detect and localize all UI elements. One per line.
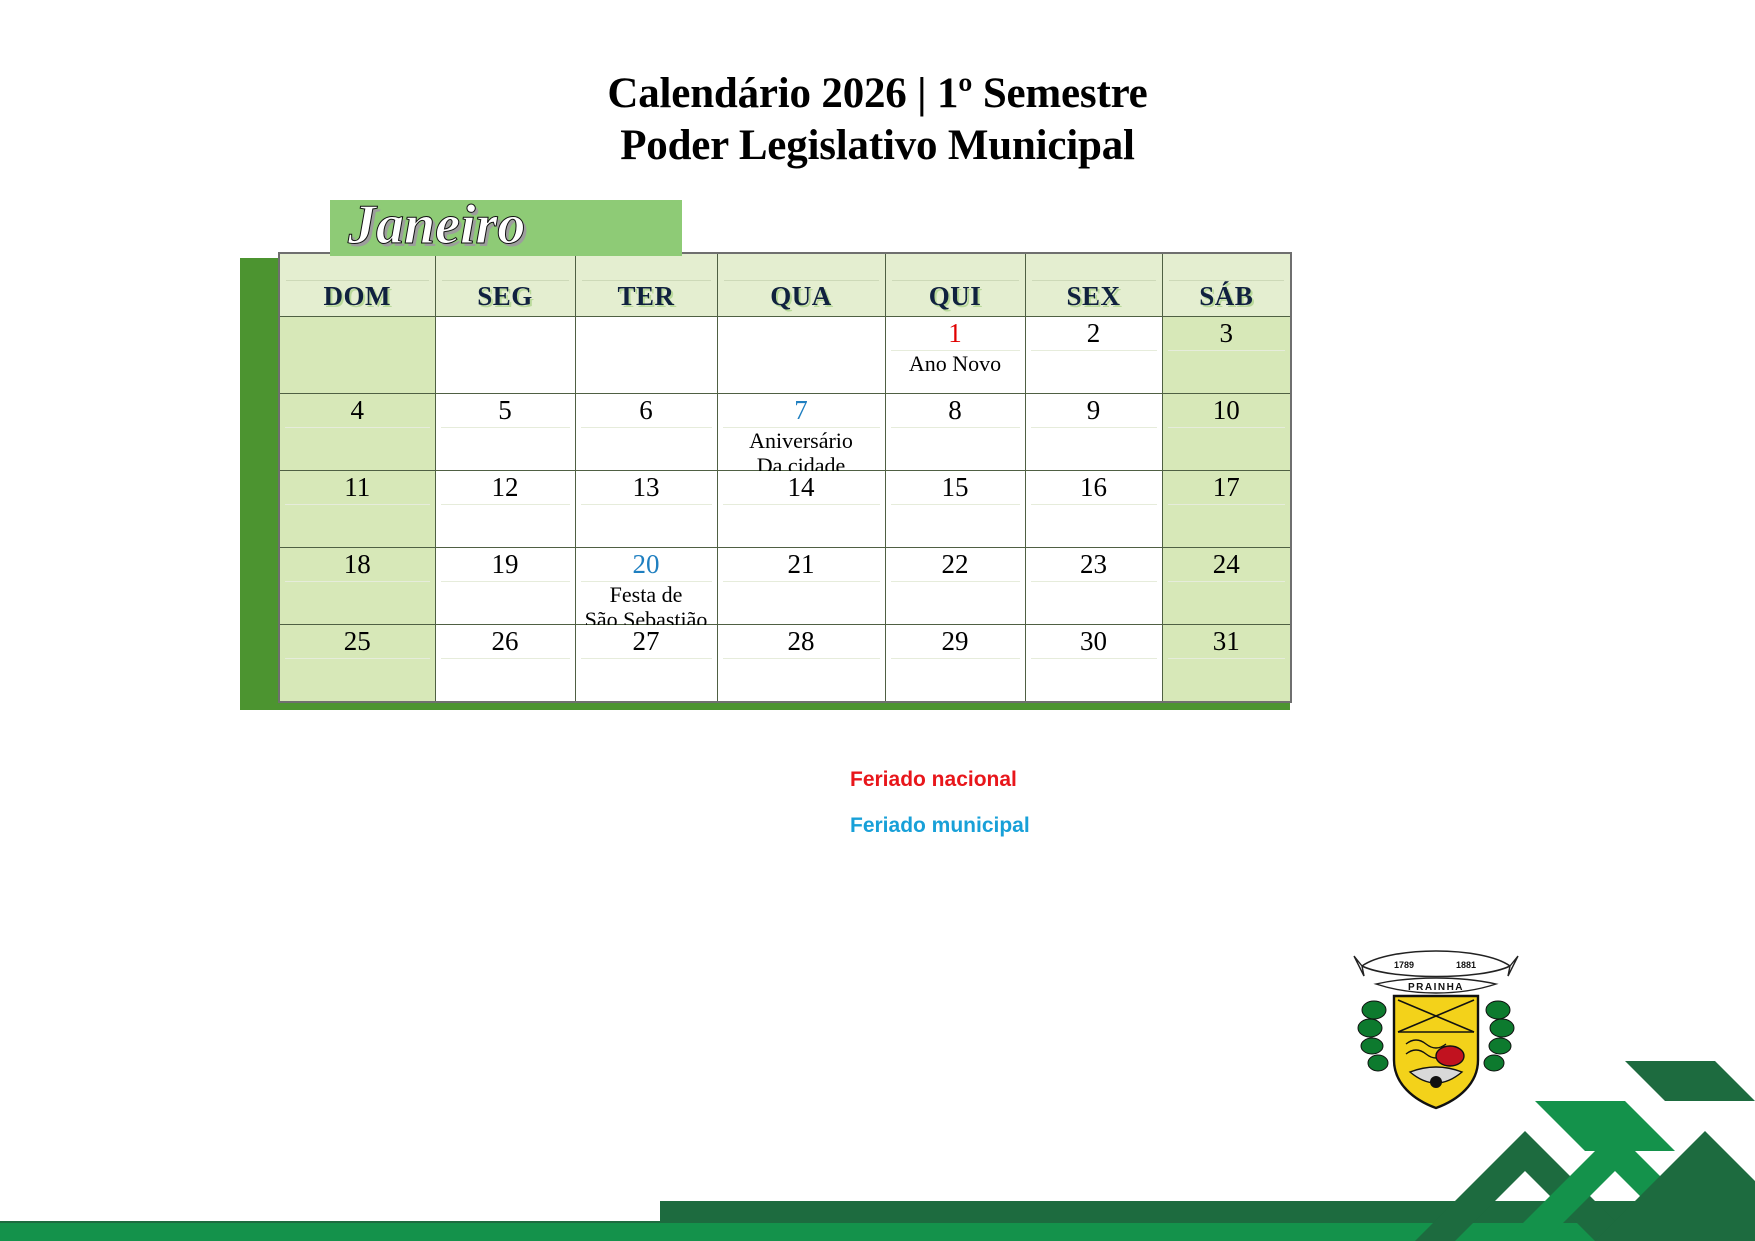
calendar-container: DOMSEGTERQUAQUISEXSÁB 1Ano Novo234567Ani… <box>278 252 1292 703</box>
day-cell-rule <box>1031 658 1157 659</box>
day-cell-rule <box>581 427 712 428</box>
calendar-page: Calendário 2026 | 1º Semestre Poder Legi… <box>0 0 1755 1241</box>
calendar-week-row: 11121314151617 <box>279 471 1291 548</box>
day-number: 10 <box>1163 394 1291 427</box>
day-cell-inner: 29 <box>886 625 1025 701</box>
day-number: 28 <box>718 625 885 658</box>
weekday-header-label: TER <box>576 281 717 312</box>
calendar-weekday-header-qui: QUI <box>885 253 1025 317</box>
day-cell-inner: 28 <box>718 625 885 701</box>
day-cell-rule <box>441 581 570 582</box>
day-number: 13 <box>576 471 717 504</box>
day-cell-rule <box>285 504 430 505</box>
svg-text:1789: 1789 <box>1394 960 1414 970</box>
weekday-header-inner: QUA <box>718 254 885 316</box>
day-number: 7 <box>718 394 885 427</box>
day-cell-rule <box>441 427 570 428</box>
day-cell-rule <box>1168 350 1286 351</box>
coat-of-arms: 1789 1881 PRAINHA <box>1350 932 1522 1117</box>
day-number: 23 <box>1026 548 1162 581</box>
weekday-header-label: QUI <box>886 281 1025 312</box>
calendar-day-cell[interactable]: 29 <box>885 625 1025 703</box>
calendar-day-cell[interactable]: 30 <box>1025 625 1162 703</box>
calendar-day-cell[interactable]: 24 <box>1162 548 1291 625</box>
weekday-header-inner: QUI <box>886 254 1025 316</box>
day-cell-inner: 9 <box>1026 394 1162 470</box>
day-cell-rule <box>285 658 430 659</box>
day-number: 19 <box>436 548 575 581</box>
day-number: 18 <box>280 548 435 581</box>
day-number: 27 <box>576 625 717 658</box>
month-name-label: Janeiro <box>348 196 525 255</box>
day-number: 30 <box>1026 625 1162 658</box>
calendar-day-cell[interactable]: 10 <box>1162 394 1291 471</box>
day-number: 8 <box>886 394 1025 427</box>
day-cell-rule <box>581 658 712 659</box>
day-cell-inner: 20Festa deSão Sebastião <box>576 548 717 624</box>
day-number: 6 <box>576 394 717 427</box>
day-cell-inner: 26 <box>436 625 575 701</box>
calendar-day-cell[interactable] <box>279 317 435 394</box>
day-event-line: Aniversário <box>720 428 883 453</box>
day-number: 26 <box>436 625 575 658</box>
day-cell-rule <box>1031 350 1157 351</box>
day-cell-inner: 17 <box>1163 471 1291 547</box>
day-cell-rule <box>1168 658 1286 659</box>
weekday-header-inner: TER <box>576 254 717 316</box>
calendar-weekday-header-sáb: SÁB <box>1162 253 1291 317</box>
calendar-day-cell[interactable]: 8 <box>885 394 1025 471</box>
calendar-day-cell[interactable]: 18 <box>279 548 435 625</box>
calendar-day-cell[interactable]: 11 <box>279 471 435 548</box>
calendar-day-cell[interactable]: 13 <box>575 471 717 548</box>
weekday-header-inner: SEG <box>436 254 575 316</box>
day-number: 29 <box>886 625 1025 658</box>
day-cell-rule <box>1168 504 1286 505</box>
month-banner: Janeiro <box>330 200 682 256</box>
weekday-header-inner: DOM <box>280 254 435 316</box>
calendar-weekday-header-sex: SEX <box>1025 253 1162 317</box>
day-cell-rule <box>1168 581 1286 582</box>
day-cell-inner: 7AniversárioDa cidade <box>718 394 885 470</box>
day-cell-rule <box>891 427 1020 428</box>
day-cell-inner <box>436 317 575 393</box>
day-cell-inner: 23 <box>1026 548 1162 624</box>
day-number: 4 <box>280 394 435 427</box>
calendar-day-cell[interactable]: 14 <box>717 471 885 548</box>
day-cell-inner: 21 <box>718 548 885 624</box>
day-cell-inner: 1Ano Novo <box>886 317 1025 393</box>
calendar-day-cell[interactable]: 2 <box>1025 317 1162 394</box>
day-cell-inner: 10 <box>1163 394 1291 470</box>
day-cell-inner <box>280 317 435 393</box>
calendar-day-cell[interactable]: 4 <box>279 394 435 471</box>
day-cell-inner: 8 <box>886 394 1025 470</box>
day-cell-inner: 31 <box>1163 625 1291 701</box>
day-number: 25 <box>280 625 435 658</box>
day-cell-rule <box>1031 504 1157 505</box>
weekday-header-inner: SEX <box>1026 254 1162 316</box>
calendar-day-cell[interactable]: 31 <box>1162 625 1291 703</box>
calendar-day-cell[interactable]: 17 <box>1162 471 1291 548</box>
footer-left-white-strip <box>0 1199 660 1221</box>
day-cell-rule <box>1031 581 1157 582</box>
day-cell-inner: 16 <box>1026 471 1162 547</box>
day-cell-inner: 25 <box>280 625 435 701</box>
calendar-weekday-header-seg: SEG <box>435 253 575 317</box>
calendar-header-row: DOMSEGTERQUAQUISEXSÁB <box>279 253 1291 317</box>
weekday-header-label: DOM <box>280 281 435 312</box>
calendar-week-row: 181920Festa deSão Sebastião21222324 <box>279 548 1291 625</box>
day-cell-rule <box>723 504 880 505</box>
day-number: 5 <box>436 394 575 427</box>
day-number: 17 <box>1163 471 1291 504</box>
day-cell-rule <box>723 658 880 659</box>
day-number: 2 <box>1026 317 1162 350</box>
brasao-prainha-icon: 1789 1881 PRAINHA <box>1350 932 1522 1117</box>
day-cell-inner: 30 <box>1026 625 1162 701</box>
weekday-header-label: SÁB <box>1163 281 1291 312</box>
calendar-week-row: 4567AniversárioDa cidade8910 <box>279 394 1291 471</box>
svg-text:PRAINHA: PRAINHA <box>1408 982 1464 993</box>
day-event-line: Festa de <box>578 582 715 607</box>
calendar-table: DOMSEGTERQUAQUISEXSÁB 1Ano Novo234567Ani… <box>278 252 1292 703</box>
day-cell-rule <box>441 504 570 505</box>
calendar-day-cell[interactable]: 19 <box>435 548 575 625</box>
day-cell-rule <box>891 504 1020 505</box>
title-line-1: Calendário 2026 | 1º Semestre <box>0 68 1755 120</box>
page-title: Calendário 2026 | 1º Semestre Poder Legi… <box>0 68 1755 173</box>
weekday-header-inner: SÁB <box>1163 254 1291 316</box>
day-cell-inner <box>576 317 717 393</box>
day-cell-inner: 18 <box>280 548 435 624</box>
legend-item-feriado-municipal: Feriado municipal <box>850 814 1030 838</box>
day-cell-rule <box>285 581 430 582</box>
calendar-day-cell[interactable]: 22 <box>885 548 1025 625</box>
day-cell-inner: 5 <box>436 394 575 470</box>
day-cell-inner: 12 <box>436 471 575 547</box>
calendar-body: 1Ano Novo234567AniversárioDa cidade89101… <box>279 317 1291 703</box>
day-cell-inner <box>718 317 885 393</box>
day-cell-inner: 3 <box>1163 317 1291 393</box>
day-number: 16 <box>1026 471 1162 504</box>
day-cell-inner: 6 <box>576 394 717 470</box>
calendar-day-cell[interactable] <box>435 317 575 394</box>
calendar-day-cell[interactable]: 20Festa deSão Sebastião <box>575 548 717 625</box>
day-number: 15 <box>886 471 1025 504</box>
calendar-day-cell[interactable]: 26 <box>435 625 575 703</box>
calendar-day-cell[interactable]: 9 <box>1025 394 1162 471</box>
day-cell-rule <box>441 658 570 659</box>
calendar-day-cell[interactable]: 15 <box>885 471 1025 548</box>
day-number: 22 <box>886 548 1025 581</box>
day-cell-rule <box>1031 427 1157 428</box>
day-number: 12 <box>436 471 575 504</box>
legend-item-feriado-nacional: Feriado nacional <box>850 768 1030 792</box>
day-cell-inner: 22 <box>886 548 1025 624</box>
calendar-day-cell[interactable]: 5 <box>435 394 575 471</box>
day-cell-inner: 14 <box>718 471 885 547</box>
day-cell-inner: 24 <box>1163 548 1291 624</box>
day-cell-rule <box>723 581 880 582</box>
day-cell-inner: 4 <box>280 394 435 470</box>
weekday-header-label: SEX <box>1026 281 1162 312</box>
calendar-day-cell[interactable]: 12 <box>435 471 575 548</box>
calendar-weekday-header-dom: DOM <box>279 253 435 317</box>
day-cell-inner: 13 <box>576 471 717 547</box>
calendar-week-row: 25262728293031 <box>279 625 1291 703</box>
day-cell-rule <box>285 427 430 428</box>
calendar-day-cell[interactable]: 3 <box>1162 317 1291 394</box>
calendar-day-cell[interactable]: 25 <box>279 625 435 703</box>
calendar-weekday-header-qua: QUA <box>717 253 885 317</box>
calendar-day-cell[interactable]: 27 <box>575 625 717 703</box>
day-cell-rule <box>1168 427 1286 428</box>
calendar-day-cell[interactable]: 16 <box>1025 471 1162 548</box>
title-line-2: Poder Legislativo Municipal <box>0 120 1755 172</box>
day-number: 14 <box>718 471 885 504</box>
weekday-header-label: QUA <box>718 281 885 312</box>
day-event-line: Ano Novo <box>888 351 1023 376</box>
day-cell-rule <box>891 581 1020 582</box>
calendar-day-cell[interactable]: 1Ano Novo <box>885 317 1025 394</box>
calendar-day-cell[interactable] <box>717 317 885 394</box>
calendar-day-cell[interactable]: 21 <box>717 548 885 625</box>
calendar-day-cell[interactable]: 6 <box>575 394 717 471</box>
day-cell-inner: 15 <box>886 471 1025 547</box>
day-number: 31 <box>1163 625 1291 658</box>
day-cell-inner: 19 <box>436 548 575 624</box>
weekday-header-label: SEG <box>436 281 575 312</box>
calendar-week-row: 1Ano Novo23 <box>279 317 1291 394</box>
day-number: 11 <box>280 471 435 504</box>
day-cell-rule <box>581 504 712 505</box>
calendar-day-cell[interactable]: 7AniversárioDa cidade <box>717 394 885 471</box>
day-number: 24 <box>1163 548 1291 581</box>
day-cell-inner: 27 <box>576 625 717 701</box>
day-cell-rule <box>891 658 1020 659</box>
calendar-day-cell[interactable]: 23 <box>1025 548 1162 625</box>
day-cell-inner: 11 <box>280 471 435 547</box>
calendar-day-cell[interactable]: 28 <box>717 625 885 703</box>
day-number: 21 <box>718 548 885 581</box>
day-cell-inner: 2 <box>1026 317 1162 393</box>
legend: Feriado nacional Feriado municipal <box>850 768 1030 860</box>
day-number: 3 <box>1163 317 1291 350</box>
svg-text:1881: 1881 <box>1456 960 1476 970</box>
day-event-label: Ano Novo <box>888 351 1023 376</box>
day-number: 1 <box>886 317 1025 350</box>
calendar-weekday-header-ter: TER <box>575 253 717 317</box>
day-number: 9 <box>1026 394 1162 427</box>
day-number: 20 <box>576 548 717 581</box>
calendar-day-cell[interactable] <box>575 317 717 394</box>
